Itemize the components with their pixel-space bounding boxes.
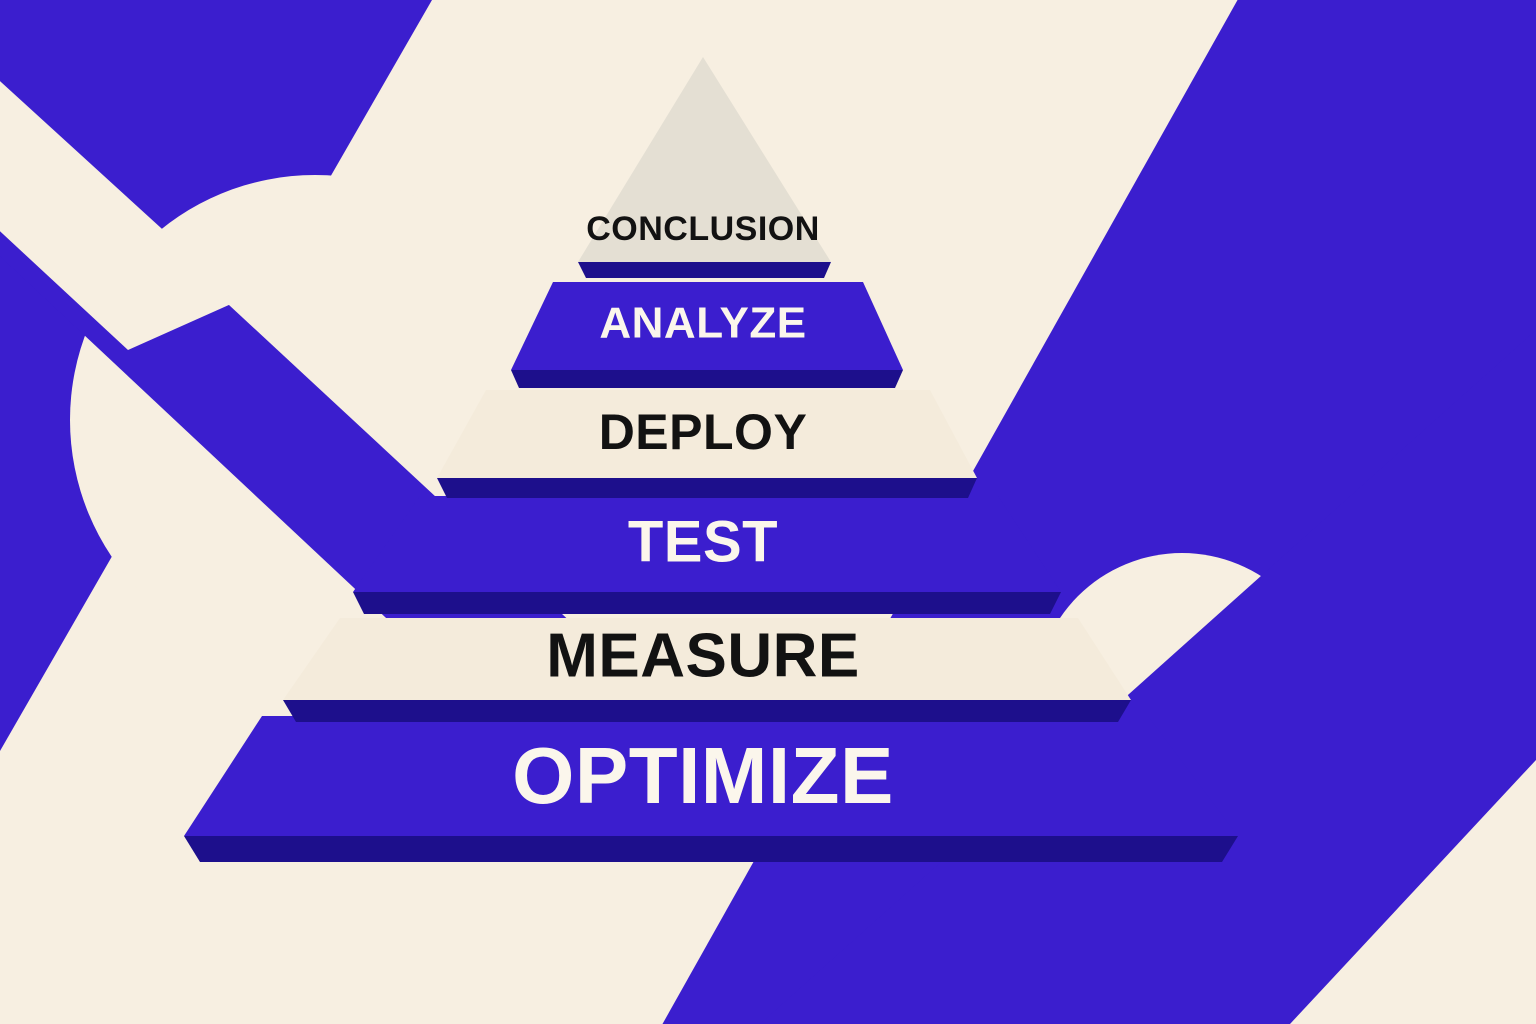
layer-label-optimize: OPTIMIZE — [512, 731, 894, 820]
layer-shadow-test — [353, 592, 1061, 614]
layer-shadow-optimize — [184, 836, 1238, 862]
layer-label-conclusion: CONCLUSION — [586, 210, 820, 248]
pyramid-diagram-canvas: OPTIMIZE MEASURE TEST DEPLOY ANALYZE CON… — [0, 0, 1536, 1024]
layer-shadow-deploy — [437, 478, 977, 498]
layer-shadow-conclusion — [578, 262, 831, 278]
layer-label-test: TEST — [628, 509, 778, 574]
layer-shadow-measure — [283, 700, 1131, 722]
layer-label-measure: MEASURE — [546, 621, 860, 690]
layer-label-analyze: ANALYZE — [599, 299, 806, 348]
layer-label-deploy: DEPLOY — [599, 404, 808, 460]
layer-shadow-analyze — [511, 370, 903, 388]
